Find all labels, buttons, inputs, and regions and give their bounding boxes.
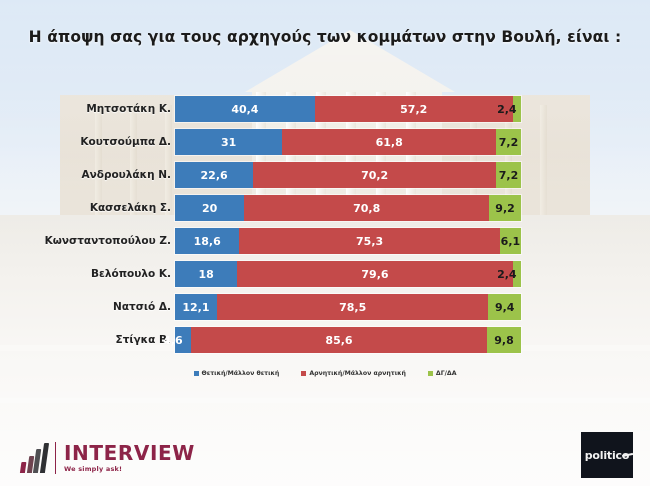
bar-value-label: 18 (198, 268, 213, 281)
bar-value-label: 7,2 (499, 136, 519, 149)
chart-row: Μητσοτάκη Κ.40,457,22,4 (0, 96, 650, 129)
stacked-bar: 3161,87,2 (175, 129, 521, 155)
bar-segment-pos: 4,6 (175, 327, 191, 353)
bar-value-label: 4,6 (163, 334, 183, 347)
bar-segment-neg: 70,2 (253, 162, 496, 188)
stacked-bar: 2070,89,2 (175, 195, 521, 221)
legend-item[interactable]: Θετική/Μάλλον θετική (194, 370, 280, 377)
page-title: Η άποψη σας για τους αρχηγούς των κομμάτ… (0, 28, 650, 46)
legend-swatch-icon (301, 371, 306, 376)
stacked-bar: 4,685,69,8 (175, 327, 521, 353)
bar-value-label: 40,4 (231, 103, 258, 116)
bar-value-label: 9,4 (495, 301, 515, 314)
chart-row: Κωνσταντοπούλου Ζ.18,675,36,1 (0, 228, 650, 261)
bar-value-label: 70,2 (361, 169, 388, 182)
bar-segment-neg: 79,6 (237, 261, 512, 287)
row-label: Κασσελάκη Σ. (90, 195, 171, 221)
chart-legend: Θετική/Μάλλον θετικήΑρνητική/Μάλλον αρνη… (0, 370, 650, 377)
chart-row: Ανδρουλάκη Ν.22,670,27,2 (0, 162, 650, 195)
bar-value-label: 12,1 (182, 301, 209, 314)
stacked-bar: 22,670,27,2 (175, 162, 521, 188)
row-label: Βελόπουλο Κ. (91, 261, 171, 287)
bar-segment-pos: 31 (175, 129, 282, 155)
bar-segment-neg: 57,2 (315, 96, 513, 122)
bar-segment-pos: 18 (175, 261, 237, 287)
bar-value-label: 70,8 (353, 202, 380, 215)
stacked-bar: 1879,62,4 (175, 261, 521, 287)
bar-segment-neg: 78,5 (217, 294, 489, 320)
bar-value-label: 78,5 (339, 301, 366, 314)
bar-value-label: 22,6 (201, 169, 228, 182)
bar-segment-dk: 6,1 (500, 228, 521, 254)
row-label: Μητσοτάκη Κ. (86, 96, 171, 122)
bar-segment-pos: 12,1 (175, 294, 217, 320)
bar-segment-dk: 9,8 (487, 327, 521, 353)
interview-bars-icon (20, 443, 49, 473)
bar-value-label: 79,6 (361, 268, 388, 281)
interview-logo: INTERVIEW We simply ask! (22, 437, 195, 479)
row-label: Ανδρουλάκη Ν. (81, 162, 171, 188)
stacked-bar: 40,457,22,4 (175, 96, 521, 122)
bar-value-label: 6,1 (501, 235, 521, 248)
stacked-bar-chart: Μητσοτάκη Κ.40,457,22,4Κουτσούμπα Δ.3161… (0, 96, 650, 364)
bar-value-label: 18,6 (194, 235, 221, 248)
bar-value-label: 85,6 (325, 334, 352, 347)
bar-value-label: 57,2 (400, 103, 427, 116)
bar-segment-dk: 2,4 (513, 96, 521, 122)
legend-label: Αρνητική/Μάλλον αρνητική (309, 370, 406, 377)
bar-value-label: 2,4 (497, 268, 517, 281)
bar-segment-neg: 75,3 (239, 228, 500, 254)
bar-segment-pos: 22,6 (175, 162, 253, 188)
bar-segment-neg: 85,6 (191, 327, 487, 353)
interview-name: INTERVIEW (64, 443, 195, 463)
bar-segment-dk: 9,2 (489, 195, 521, 221)
legend-label: Θετική/Μάλλον θετική (202, 370, 280, 377)
row-label: Νατσιό Δ. (113, 294, 171, 320)
legend-swatch-icon (194, 371, 199, 376)
bar-segment-dk: 7,2 (496, 129, 521, 155)
stacked-bar: 12,178,59,4 (175, 294, 521, 320)
chart-row: Βελόπουλο Κ.1879,62,4 (0, 261, 650, 294)
row-label: Κουτσούμπα Δ. (80, 129, 171, 155)
bar-value-label: 61,8 (376, 136, 403, 149)
bar-value-label: 2,4 (497, 103, 517, 116)
politico-logo: politico (581, 432, 633, 478)
legend-label: ΔΓ/ΔΑ (436, 370, 457, 377)
bar-value-label: 31 (221, 136, 236, 149)
bar-value-label: 9,2 (495, 202, 515, 215)
bar-segment-pos: 18,6 (175, 228, 239, 254)
bar-segment-neg: 61,8 (282, 129, 496, 155)
row-label: Κωνσταντοπούλου Ζ. (45, 228, 171, 254)
chart-row: Στίγκα Β.4,685,69,8 (0, 327, 650, 360)
bar-segment-dk: 7,2 (496, 162, 521, 188)
bar-value-label: 75,3 (356, 235, 383, 248)
bar-segment-neg: 70,8 (244, 195, 489, 221)
bar-segment-dk: 9,4 (488, 294, 521, 320)
bar-segment-pos: 20 (175, 195, 244, 221)
chart-row: Κουτσούμπα Δ.3161,87,2 (0, 129, 650, 162)
chart-row: Κασσελάκη Σ.2070,89,2 (0, 195, 650, 228)
legend-item[interactable]: ΔΓ/ΔΑ (428, 370, 457, 377)
stacked-bar: 18,675,36,1 (175, 228, 521, 254)
bar-value-label: 7,2 (499, 169, 519, 182)
bar-segment-dk: 2,4 (513, 261, 521, 287)
logo-divider (55, 442, 57, 474)
legend-item[interactable]: Αρνητική/Μάλλον αρνητική (301, 370, 406, 377)
politico-name: politico (585, 449, 629, 462)
chart-row: Νατσιό Δ.12,178,59,4 (0, 294, 650, 327)
legend-swatch-icon (428, 371, 433, 376)
bar-value-label: 9,8 (494, 334, 514, 347)
bar-value-label: 20 (202, 202, 217, 215)
interview-slogan: We simply ask! (64, 466, 195, 473)
bar-segment-pos: 40,4 (175, 96, 315, 122)
